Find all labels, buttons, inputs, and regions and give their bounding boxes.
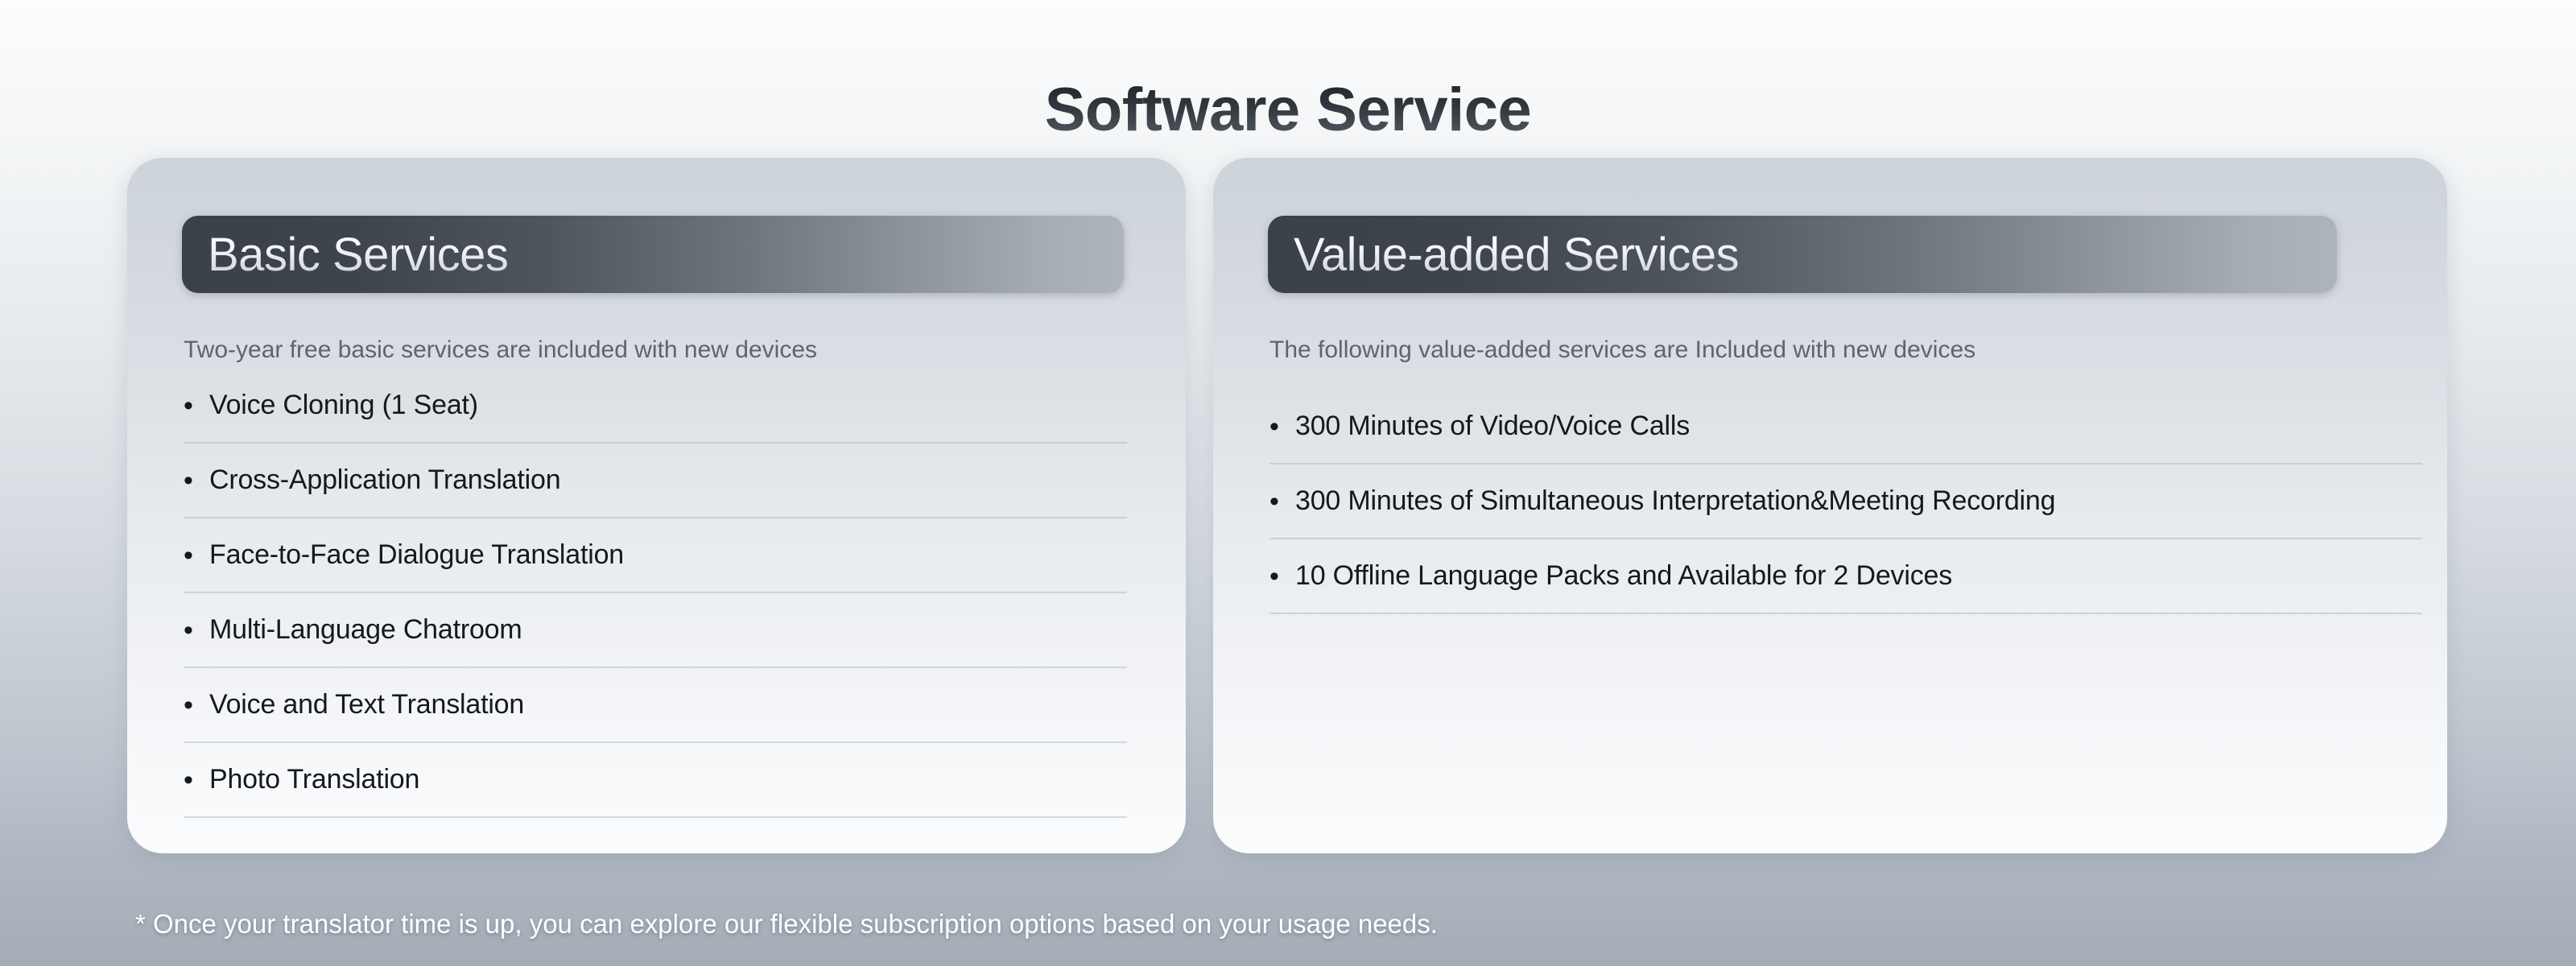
list-item: • Photo Translation: [184, 743, 1127, 818]
list-item: • Multi-Language Chatroom: [184, 593, 1127, 668]
list-item-label: 300 Minutes of Video/Voice Calls: [1295, 411, 1690, 442]
bullet-icon: •: [184, 542, 209, 569]
list-item-label: Voice Cloning (1 Seat): [209, 390, 478, 421]
list-item: • Voice Cloning (1 Seat): [184, 369, 1127, 444]
list-item: • 300 Minutes of Video/Voice Calls: [1269, 390, 2422, 464]
page-title: Software Service: [0, 75, 2576, 145]
list-item-label: Face-to-Face Dialogue Translation: [209, 539, 624, 571]
list-item: • 300 Minutes of Simultaneous Interpreta…: [1269, 464, 2422, 539]
service-cards-container: Basic Services Two-year free basic servi…: [0, 158, 2576, 866]
list-item-label: Cross-Application Translation: [209, 464, 560, 496]
list-item-label: 300 Minutes of Simultaneous Interpretati…: [1295, 485, 2055, 517]
list-item: • 10 Offline Language Packs and Availabl…: [1269, 539, 2422, 614]
bullet-icon: •: [184, 392, 209, 419]
bullet-icon: •: [184, 766, 209, 794]
bullet-icon: •: [1269, 488, 1295, 515]
list-item: • Face-to-Face Dialogue Translation: [184, 518, 1127, 593]
bullet-icon: •: [184, 467, 209, 494]
list-item-label: Multi-Language Chatroom: [209, 614, 522, 646]
card-value-added-services: Value-added Services The following value…: [1213, 158, 2447, 853]
list-item-label: Voice and Text Translation: [209, 689, 524, 720]
card-header-title: Basic Services: [208, 228, 508, 282]
bullet-icon: •: [184, 617, 209, 644]
card-header-value-added-services: Value-added Services: [1268, 216, 2337, 293]
list-item: • Cross-Application Translation: [184, 444, 1127, 518]
list-item: • Voice and Text Translation: [184, 668, 1127, 743]
footnote-text: * Once your translator time is up, you c…: [135, 909, 1438, 939]
card-subtitle: The following value-added services are I…: [1269, 336, 1975, 364]
service-list-value-added: • 300 Minutes of Video/Voice Calls • 300…: [1269, 390, 2422, 614]
bullet-icon: •: [184, 691, 209, 719]
list-item-label: Photo Translation: [209, 764, 419, 795]
list-item-label: 10 Offline Language Packs and Available …: [1295, 560, 1952, 592]
card-header-title: Value-added Services: [1294, 228, 1739, 282]
card-header-basic-services: Basic Services: [182, 216, 1124, 293]
bullet-icon: •: [1269, 413, 1295, 440]
service-list-basic: • Voice Cloning (1 Seat) • Cross-Applica…: [184, 369, 1127, 818]
card-subtitle: Two-year free basic services are include…: [184, 336, 817, 364]
bullet-icon: •: [1269, 563, 1295, 590]
card-basic-services: Basic Services Two-year free basic servi…: [127, 158, 1186, 853]
